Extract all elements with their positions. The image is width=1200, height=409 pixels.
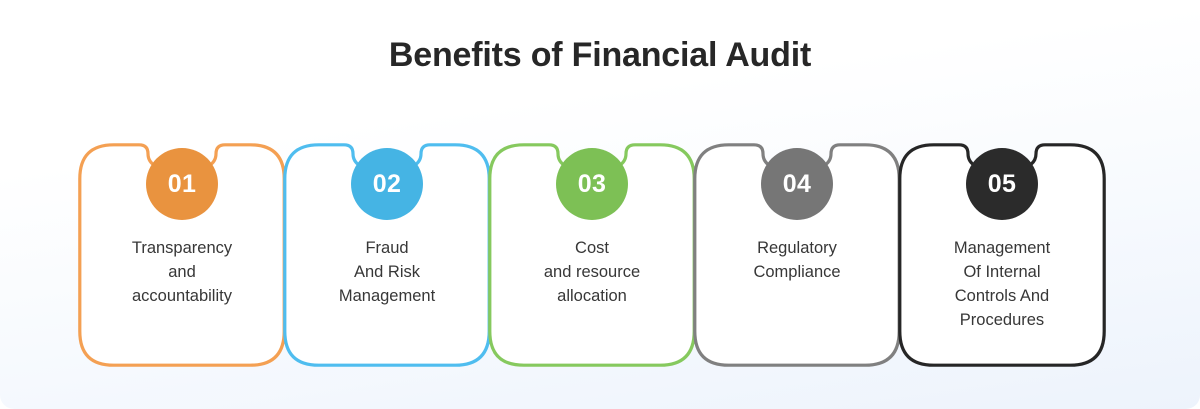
infographic-poster: Benefits of Financial Audit 01Transparen…	[0, 0, 1200, 409]
card-number-badge: 05	[966, 148, 1038, 220]
card-label: Transparency and accountability	[86, 236, 278, 308]
benefit-card-cost-and-resource-allocation[interactable]: 03Cost and resource allocation	[488, 143, 696, 367]
card-label: Cost and resource allocation	[496, 236, 688, 308]
card-label: Management Of Internal Controls And Proc…	[906, 236, 1098, 332]
benefit-card-fraud-and-risk-management[interactable]: 02Fraud And Risk Management	[283, 143, 491, 367]
benefit-card-management-of-internal-controls-and-procedures[interactable]: 05Management Of Internal Controls And Pr…	[898, 143, 1106, 367]
benefit-card-transparency-and-accountability[interactable]: 01Transparency and accountability	[78, 143, 286, 367]
page-title: Benefits of Financial Audit	[0, 36, 1200, 75]
card-label: Regulatory Compliance	[701, 236, 893, 284]
card-number-badge: 03	[556, 148, 628, 220]
benefit-cards-row: 01Transparency and accountability02Fraud…	[78, 143, 1122, 367]
benefit-card-regulatory-compliance[interactable]: 04Regulatory Compliance	[693, 143, 901, 367]
card-number-badge: 02	[351, 148, 423, 220]
card-number-badge: 01	[146, 148, 218, 220]
card-label: Fraud And Risk Management	[291, 236, 483, 308]
card-number-badge: 04	[761, 148, 833, 220]
